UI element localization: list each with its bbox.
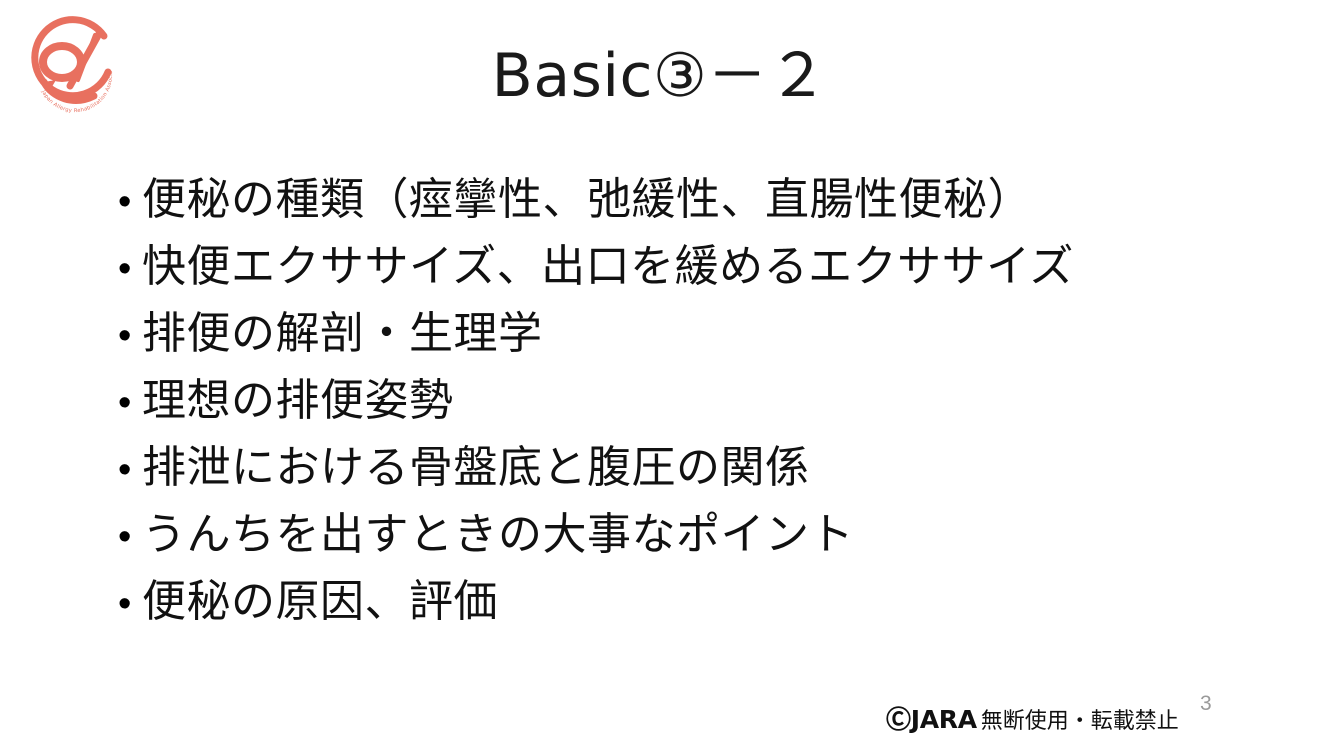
bullet-dot-icon: •	[118, 169, 142, 236]
list-item: • うんちを出すときの大事なポイント	[118, 501, 1278, 568]
copyright-mark: ⒸJARA	[886, 705, 977, 734]
list-item: • 便秘の原因、評価	[118, 568, 1278, 635]
list-item-label: 便秘の種類（痙攣性、弛緩性、直腸性便秘）	[142, 166, 1278, 233]
list-item: • 快便エクササイズ、出口を緩めるエクササイズ	[118, 233, 1278, 300]
list-item-label: 理想の排便姿勢	[142, 367, 1278, 434]
list-item: • 便秘の種類（痙攣性、弛緩性、直腸性便秘）	[118, 166, 1278, 233]
list-item-label: 排泄における骨盤底と腹圧の関係	[142, 434, 1278, 501]
list-item-label: 便秘の原因、評価	[142, 568, 1278, 635]
list-item-label: 快便エクササイズ、出口を緩めるエクササイズ	[142, 233, 1278, 300]
page-number: 3	[1200, 692, 1212, 716]
bullet-dot-icon: •	[118, 504, 142, 571]
bullet-list: • 便秘の種類（痙攣性、弛緩性、直腸性便秘） • 快便エクササイズ、出口を緩める…	[118, 166, 1278, 635]
list-item: • 排便の解剖・生理学	[118, 300, 1278, 367]
list-item-label: うんちを出すときの大事なポイント	[142, 501, 1278, 568]
bullet-dot-icon: •	[118, 370, 142, 437]
copyright-notice: ⒸJARA無断使用・転載禁止	[886, 700, 1179, 736]
bullet-dot-icon: •	[118, 571, 142, 638]
bullet-dot-icon: •	[118, 303, 142, 370]
bullet-dot-icon: •	[118, 236, 142, 303]
list-item: • 排泄における骨盤底と腹圧の関係	[118, 434, 1278, 501]
list-item-label: 排便の解剖・生理学	[142, 300, 1278, 367]
page-title: Basic③－２	[0, 46, 1320, 106]
copyright-note: 無断使用・転載禁止	[981, 709, 1179, 734]
presentation-slide: Japan Allergy Rehabilitation Association…	[0, 0, 1320, 742]
list-item: • 理想の排便姿勢	[118, 367, 1278, 434]
bullet-dot-icon: •	[118, 437, 142, 504]
